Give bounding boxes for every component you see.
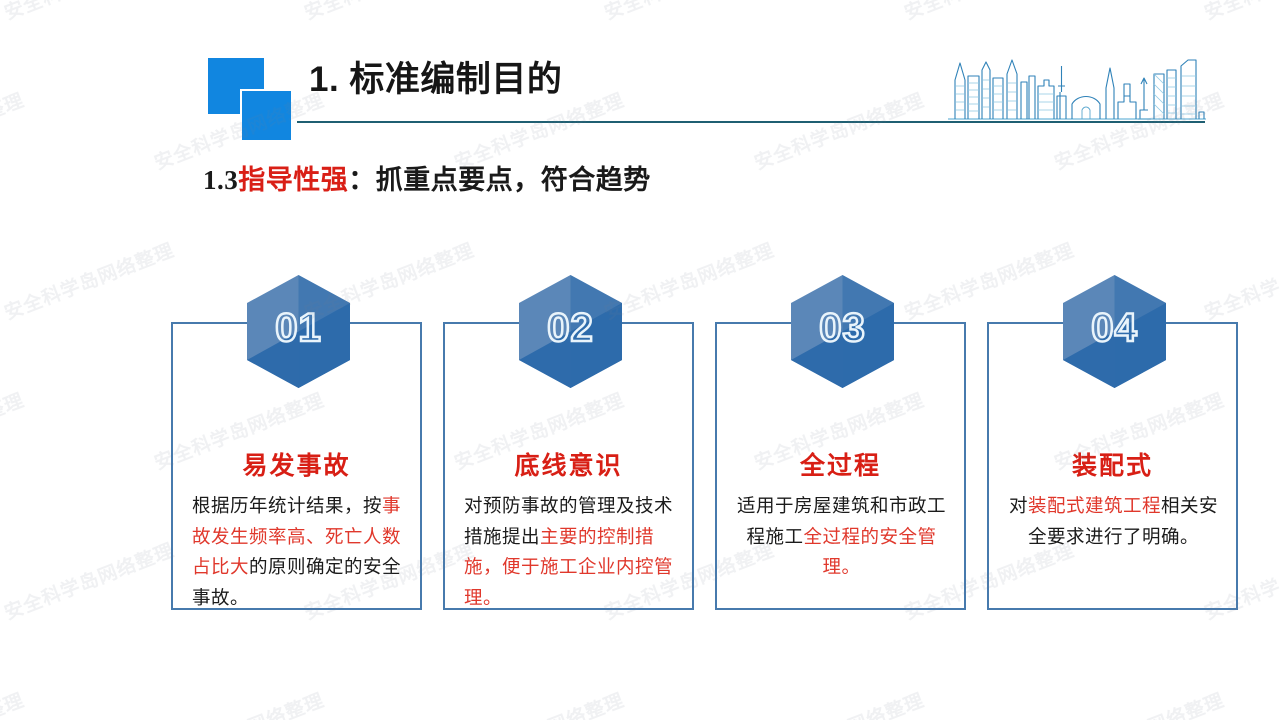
card-body-text: 对预防事故的管理及技术措施提出主要的控制措施，便于施工企业内控管理。 xyxy=(464,492,675,614)
section-subtitle: 1.3指导性强：抓重点要点，符合趋势 xyxy=(203,158,651,197)
card-number-label: 01 xyxy=(247,275,350,388)
card-heading: 底线意识 xyxy=(445,446,692,482)
watermark-text: 安全科学岛网络整理 xyxy=(0,85,28,175)
card-number-label: 02 xyxy=(519,275,622,388)
card-number-label: 04 xyxy=(1063,275,1166,388)
card-text-segment-accent: 装配式建筑工程 xyxy=(1028,497,1161,517)
watermark-text: 安全科学岛网络整理 xyxy=(450,685,628,720)
card-heading: 全过程 xyxy=(717,446,964,482)
watermark-text: 安全科学岛网络整理 xyxy=(750,85,928,175)
card-number-badge: 04 xyxy=(1063,275,1166,388)
watermark-text: 安全科学岛网络整理 xyxy=(1050,685,1228,720)
subtitle-highlight: 指导性强 xyxy=(238,165,348,195)
watermark-text: 安全科学岛网络整理 xyxy=(0,385,28,475)
card-body-text: 适用于房屋建筑和市政工程施工全过程的安全管理。 xyxy=(736,492,947,584)
watermark-text: 安全科学岛网络整理 xyxy=(300,0,478,25)
watermark-text: 安全科学岛网络整理 xyxy=(600,0,778,25)
card-text-segment: 对 xyxy=(1009,497,1028,517)
subtitle-prefix: 1.3 xyxy=(203,165,238,195)
watermark-text: 安全科学岛网络整理 xyxy=(0,235,178,325)
card-number-label: 03 xyxy=(791,275,894,388)
logo-squares-icon xyxy=(208,58,312,144)
watermark-text: 安全科学岛网络整理 xyxy=(0,0,178,25)
card-number-badge: 01 xyxy=(247,275,350,388)
subtitle-suffix: ：抓重点要点，符合趋势 xyxy=(348,165,651,195)
watermark-text: 安全科学岛网络整理 xyxy=(0,535,178,625)
watermark-text: 安全科学岛网络整理 xyxy=(750,685,928,720)
watermark-text: 安全科学岛网络整理 xyxy=(1200,0,1280,25)
card-heading: 易发事故 xyxy=(173,446,420,482)
card-body-text: 对装配式建筑工程相关安全要求进行了明确。 xyxy=(1008,492,1219,553)
watermark-text: 安全科学岛网络整理 xyxy=(150,685,328,720)
watermark-text: 安全科学岛网络整理 xyxy=(0,685,28,720)
card-text-segment-accent: 全过程的安全管理。 xyxy=(804,528,937,579)
logo-square-front xyxy=(240,89,293,142)
city-skyline-icon xyxy=(948,56,1206,124)
card-number-badge: 02 xyxy=(519,275,622,388)
card-number-badge: 03 xyxy=(791,275,894,388)
page-title: 1. 标准编制目的 xyxy=(309,60,562,100)
feature-card-row: 易发事故 根据历年统计结果，按事故发生频率高、死亡人数占比大的原则确定的安全事故… xyxy=(171,275,1272,615)
card-text-segment: 根据历年统计结果，按 xyxy=(192,497,382,517)
card-body-text: 根据历年统计结果，按事故发生频率高、死亡人数占比大的原则确定的安全事故。 xyxy=(192,492,403,614)
card-heading: 装配式 xyxy=(989,446,1236,482)
watermark-text: 安全科学岛网络整理 xyxy=(900,0,1078,25)
slide-canvas: 1. 标准编制目的 xyxy=(0,0,1280,720)
